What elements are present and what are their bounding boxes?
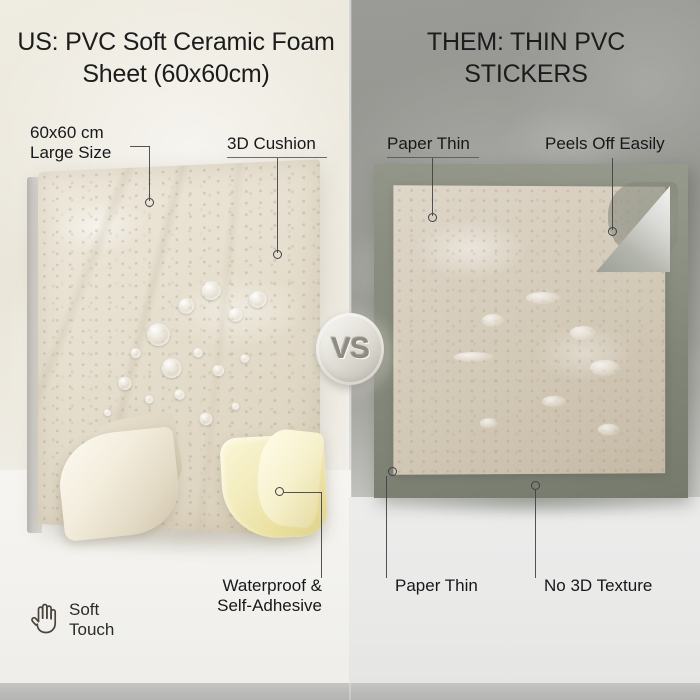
surface-smear xyxy=(570,326,596,340)
water-droplet xyxy=(193,348,203,357)
surface-smear xyxy=(542,396,566,407)
water-droplet xyxy=(104,409,111,416)
callout-peels-off-label: Peels Off Easily xyxy=(545,134,665,154)
callout-waterproof-anchor xyxy=(275,487,284,496)
water-droplet xyxy=(228,308,242,322)
heading-them: THEM: THIN PVC STICKERS xyxy=(366,27,686,90)
water-droplet xyxy=(240,354,249,362)
surface-smear xyxy=(526,292,560,304)
callout-paper-thin-top: Paper Thin xyxy=(387,134,479,158)
callout-size-anchor xyxy=(145,198,154,207)
callout-waterproof-leader-v xyxy=(321,492,322,578)
hand-icon xyxy=(30,601,60,640)
water-droplet xyxy=(174,389,185,399)
callout-peels-off-anchor xyxy=(608,227,617,236)
callout-waterproof-label: Waterproof & Self-Adhesive xyxy=(200,576,322,617)
callout-paper-thin-bottom-leader-v xyxy=(386,476,387,578)
water-droplet xyxy=(130,348,140,358)
callout-peels-off-leader-v xyxy=(612,158,613,230)
callout-no-3d-texture: No 3D Texture xyxy=(544,576,652,596)
callout-no-3d-anchor xyxy=(531,481,540,490)
surface-smear xyxy=(454,352,494,362)
right-floor xyxy=(349,497,700,700)
infographic-canvas: US: PVC Soft Ceramic Foam Sheet (60x60cm… xyxy=(0,0,700,700)
callout-paper-thin-top-leader-v xyxy=(432,158,433,216)
water-droplet xyxy=(232,403,240,410)
water-droplet xyxy=(145,395,153,403)
baseboard-seam xyxy=(349,683,351,700)
callout-no-3d-leader-v xyxy=(535,490,536,578)
callout-cushion-anchor xyxy=(273,250,282,259)
callout-paper-thin-top-label: Paper Thin xyxy=(387,134,479,154)
callout-cushion-label: 3D Cushion xyxy=(227,134,327,154)
vs-badge: VS xyxy=(316,313,384,385)
vs-badge-label: VS xyxy=(331,332,369,366)
surface-smear xyxy=(482,314,504,327)
water-droplet xyxy=(147,323,170,346)
callout-cushion: 3D Cushion xyxy=(227,134,327,158)
callout-size: 60x60 cm Large Size xyxy=(30,123,111,164)
callout-waterproof-leader-h xyxy=(284,492,322,493)
soft-touch-label: Soft Touch xyxy=(69,600,114,640)
callout-no-3d-texture-label: No 3D Texture xyxy=(544,576,652,596)
callout-size-label: 60x60 cm Large Size xyxy=(30,123,111,164)
water-droplet xyxy=(162,358,182,378)
water-droplet xyxy=(200,413,213,426)
surface-smear xyxy=(598,424,620,436)
water-droplet xyxy=(178,298,194,314)
callout-paper-thin-top-rule xyxy=(387,157,479,158)
water-droplet xyxy=(249,291,267,308)
callout-paper-thin-bottom-anchor xyxy=(388,467,397,476)
callout-size-leader-v xyxy=(149,146,150,201)
surface-smear xyxy=(480,418,498,428)
soft-touch-badge: Soft Touch xyxy=(30,600,114,640)
callout-cushion-leader-v xyxy=(277,158,278,253)
callout-paper-thin-bottom-label: Paper Thin xyxy=(395,576,478,596)
callout-size-leader-h xyxy=(130,146,150,147)
surface-smear xyxy=(590,360,620,376)
callout-paper-thin-top-anchor xyxy=(428,213,437,222)
water-droplet xyxy=(118,377,131,390)
water-droplet xyxy=(212,365,224,377)
callout-peels-off: Peels Off Easily xyxy=(545,134,665,154)
heading-us: US: PVC Soft Ceramic Foam Sheet (60x60cm… xyxy=(14,27,338,90)
callout-waterproof: Waterproof & Self-Adhesive xyxy=(200,576,322,617)
callout-paper-thin-bottom: Paper Thin xyxy=(395,576,478,596)
